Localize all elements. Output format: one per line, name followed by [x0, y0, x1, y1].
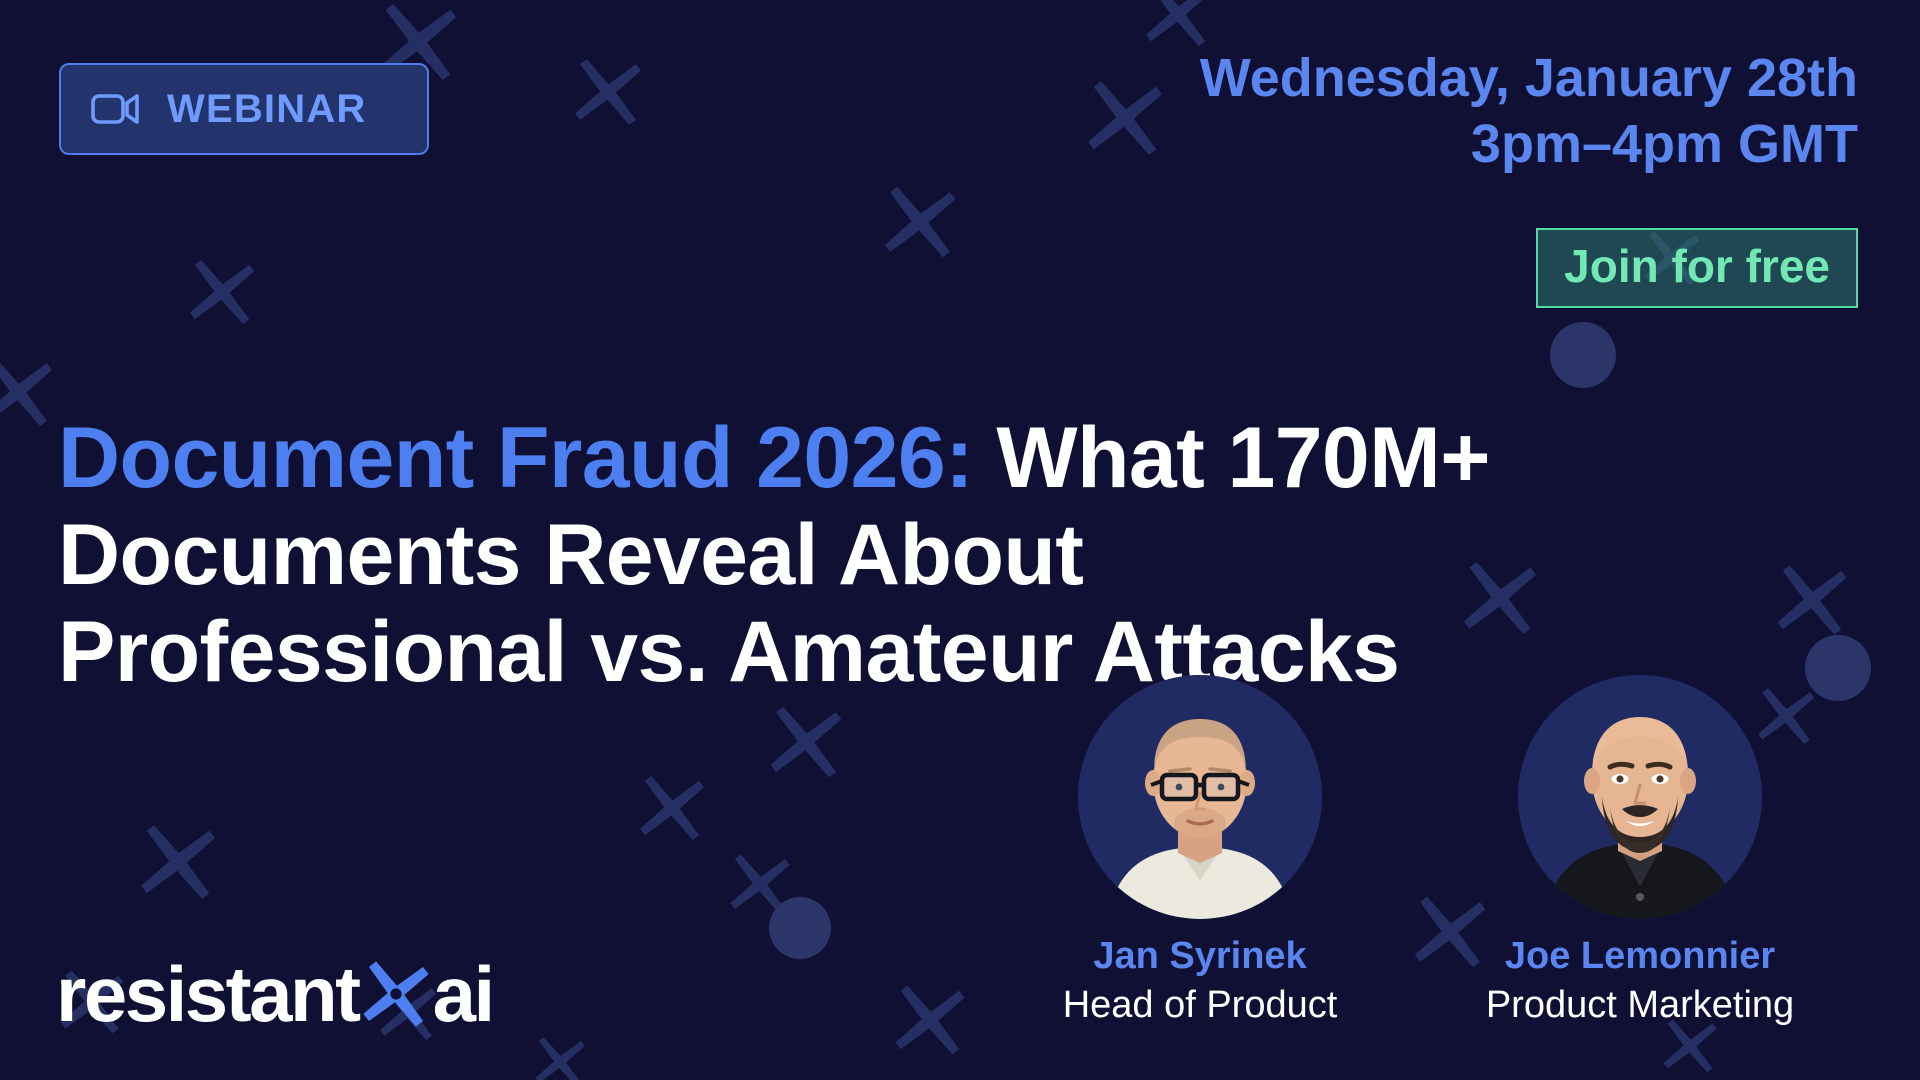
- video-camera-icon: [91, 91, 141, 127]
- headline-accent: Document Fraud 2026:: [58, 410, 973, 506]
- resistant-ai-logo: resistant ai: [56, 955, 493, 1033]
- webinar-time: 3pm–4pm GMT: [1200, 112, 1858, 178]
- webinar-badge: WEBINAR: [59, 63, 429, 155]
- schedule-block: Wednesday, January 28th 3pm–4pm GMT: [1200, 46, 1858, 178]
- portrait-jan-syrinek: [1078, 675, 1322, 919]
- webinar-date: Wednesday, January 28th: [1200, 46, 1858, 112]
- portrait-joe-lemonnier: [1518, 675, 1762, 919]
- logo-word-ai: ai: [433, 955, 493, 1033]
- speaker-card: Jan Syrinek Head of Product: [980, 675, 1420, 1030]
- speaker-card: Joe Lemonnier Product Marketing: [1420, 675, 1860, 1030]
- logo-word-resistant: resistant: [56, 955, 359, 1033]
- speaker-role: Product Marketing: [1420, 981, 1860, 1030]
- join-button-label: Join for free: [1564, 240, 1830, 292]
- page-title: Document Fraud 2026: What 170M+ Document…: [58, 410, 1558, 702]
- avatar: [1518, 675, 1762, 919]
- speaker-name: Jan Syrinek: [980, 933, 1420, 981]
- avatar: [1078, 675, 1322, 919]
- join-for-free-button[interactable]: Join for free: [1536, 228, 1858, 308]
- webinar-badge-label: WEBINAR: [167, 89, 367, 129]
- webinar-promo-banner: WEBINAR Wednesday, January 28th 3pm–4pm …: [0, 0, 1920, 1080]
- speaker-list: Jan Syrinek Head of Product: [980, 675, 1860, 1030]
- x-pinwheel-icon: [361, 959, 431, 1029]
- speaker-role: Head of Product: [980, 981, 1420, 1030]
- speaker-name: Joe Lemonnier: [1420, 933, 1860, 981]
